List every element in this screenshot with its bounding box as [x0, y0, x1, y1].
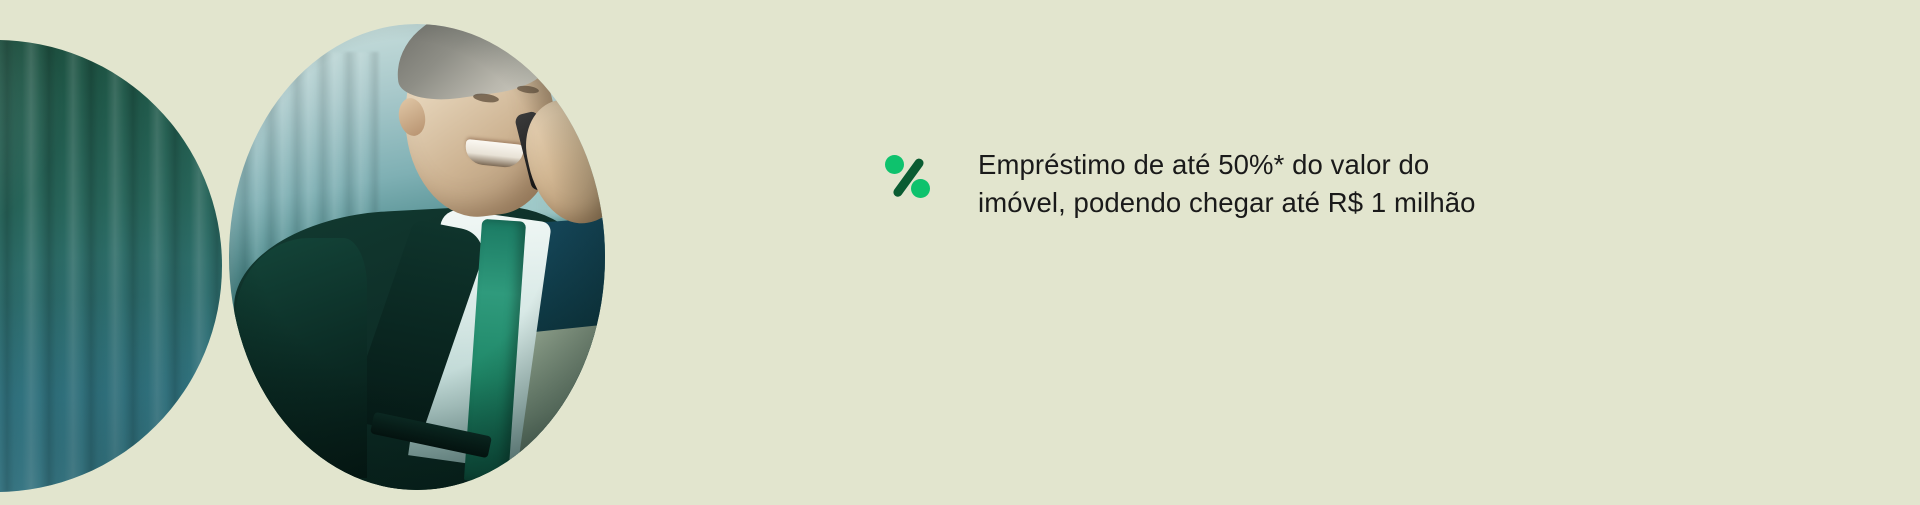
- curtain-sheen-overlay: [0, 40, 222, 492]
- photo-vignette: [229, 24, 605, 490]
- headline: Empréstimo de até 50%* do valor do imóve…: [978, 146, 1476, 222]
- office-background-pane: [547, 24, 605, 94]
- message-block: Empréstimo de até 50%* do valor do imóve…: [884, 146, 1476, 222]
- headline-line-2: imóvel, podendo chegar até R$ 1 milhão: [978, 184, 1476, 222]
- portrait-circle: [229, 24, 605, 490]
- percent-icon: [884, 153, 932, 201]
- headline-line-1: Empréstimo de até 50%* do valor do: [978, 146, 1476, 184]
- percent-icon-dot-top-left: [885, 155, 904, 174]
- promo-banner: Empréstimo de até 50%* do valor do imóve…: [0, 0, 1920, 505]
- curtain-circle: [0, 40, 222, 492]
- businessman-photo: [229, 24, 605, 490]
- percent-icon-dot-bottom-right: [911, 179, 930, 198]
